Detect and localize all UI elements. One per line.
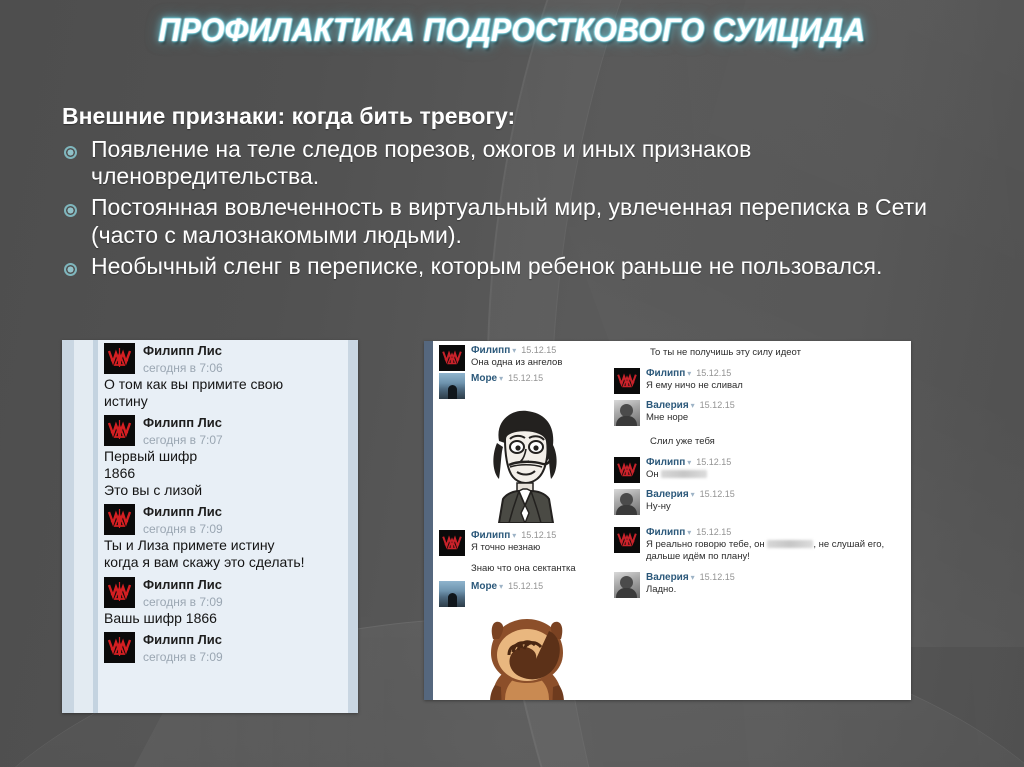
message-body: О том как вы примите свою истину — [104, 376, 342, 410]
message-date: 15.12.15 — [696, 368, 731, 378]
bullet-target-icon — [64, 146, 77, 159]
page-title: ПРОФИЛАКТИКА ПОДРОСТКОВОГО СУИЦИДА — [159, 12, 866, 49]
message-date: 15.12.15 — [696, 457, 731, 467]
chat-message: Море ▾ 15.12.15 — [439, 373, 610, 399]
message-meta: Филипп Лис сегодня в 7:07 — [143, 415, 223, 446]
message-meta: Филипп Лис сегодня в 7:06 — [143, 343, 223, 374]
left-shot-gutter-outer — [62, 340, 74, 713]
message-meta: Филипп ▾ 15.12.15 — [471, 345, 562, 356]
message-author: Филипп Лис — [143, 577, 222, 592]
message-date: 15.12.15 — [700, 572, 735, 582]
title-band: ПРОФИЛАКТИКА ПОДРОСТКОВОГО СУИЦИДА — [0, 12, 1024, 49]
chat-message: Филипп ▾ 15.12.15 Я точно незнаю — [439, 530, 610, 556]
message-content: Филипп ▾ 15.12.15 Я точно незнаю — [471, 530, 556, 556]
message-author[interactable]: Филипп — [646, 457, 685, 468]
emblem-avatar-icon — [104, 577, 135, 608]
message-timestamp: сегодня в 7:09 — [143, 523, 223, 535]
message-timestamp: сегодня в 7:07 — [143, 434, 223, 446]
chat-message: Филипп Лис сегодня в 7:09 Вашь шифр 1866 — [104, 574, 342, 627]
chevron-down-icon[interactable]: ▾ — [687, 369, 691, 378]
bullet-item: Постоянная вовлеченность в виртуальный м… — [62, 194, 952, 248]
message-text: Слил уже тебя — [650, 436, 903, 449]
left-chat-feed: Филипп Лис сегодня в 7:06 О том как вы п… — [98, 340, 348, 713]
message-line: Это вы с лизой — [104, 482, 342, 499]
chevron-down-icon[interactable]: ▾ — [687, 458, 691, 467]
message-author[interactable]: Валерия — [646, 572, 689, 583]
chevron-down-icon[interactable]: ▾ — [512, 346, 516, 355]
message-header: Филипп Лис сегодня в 7:09 — [104, 574, 342, 608]
message-date: 15.12.15 — [508, 581, 543, 591]
bullet-item: Необычный сленг в переписке, которым реб… — [62, 253, 952, 280]
lead-heading: Внешние признаки: когда бить тревогу: — [62, 103, 952, 130]
message-text: Она одна из ангелов — [471, 357, 562, 370]
message-content: Филипп ▾ 15.12.15 Она одна из ангелов — [471, 345, 562, 371]
message-content: Филипп ▾ 15.12.15 Он — [646, 457, 731, 483]
chat-message: Филипп Лис сегодня в 7:07 Первый шифр 18… — [104, 412, 342, 499]
face-photo-avatar-icon — [614, 400, 640, 426]
message-meta: Море ▾ 15.12.15 — [471, 373, 543, 384]
message-line: 1866 — [104, 465, 342, 482]
seashore-photo-avatar-icon — [439, 581, 465, 607]
emblem-avatar-icon — [439, 345, 465, 371]
message-content: Валерия ▾ 15.12.15 Ну-ну — [646, 489, 735, 515]
message-content: Филипп ▾ 15.12.15 Я реально говорю тебе,… — [646, 527, 903, 565]
bullet-text: Необычный сленг в переписке, которым реб… — [91, 253, 882, 280]
message-meta: Валерия ▾ 15.12.15 — [646, 489, 735, 500]
message-author[interactable]: Валерия — [646, 489, 689, 500]
message-meta: Филипп Лис сегодня в 7:09 — [143, 504, 223, 535]
emblem-avatar-icon — [104, 504, 135, 535]
chat-message: Филипп Лис сегодня в 7:09 Ты и Лиза прим… — [104, 501, 342, 571]
message-header: Филипп Лис сегодня в 7:07 — [104, 412, 342, 446]
bullet-target-icon — [64, 204, 77, 217]
left-chat-screenshot: Филипп Лис сегодня в 7:06 О том как вы п… — [62, 340, 358, 713]
chat-message: Море ▾ 15.12.15 — [439, 581, 610, 607]
emblem-avatar-icon — [104, 415, 135, 446]
message-meta: Валерия ▾ 15.12.15 — [646, 400, 735, 411]
message-author[interactable]: Море — [471, 581, 497, 592]
censored-word-redaction — [661, 470, 707, 478]
message-author: Филипп Лис — [143, 504, 222, 519]
message-body: Вашь шифр 1866 — [104, 610, 342, 627]
message-line: О том как вы примите свою — [104, 376, 342, 393]
message-date: 15.12.15 — [700, 489, 735, 499]
message-meta: Филипп ▾ 15.12.15 — [646, 457, 731, 468]
message-line: истину — [104, 393, 342, 410]
chevron-down-icon[interactable]: ▾ — [691, 401, 695, 410]
message-body: Первый шифр 1866 Это вы с лизой — [104, 448, 342, 499]
message-author[interactable]: Филипп — [646, 527, 685, 538]
emblem-avatar-icon — [614, 368, 640, 394]
message-meta: Филипп Лис сегодня в 7:09 — [143, 577, 223, 608]
chevron-down-icon[interactable]: ▾ — [499, 582, 503, 591]
message-header: Филипп Лис сегодня в 7:09 — [104, 501, 342, 535]
message-date: 15.12.15 — [521, 345, 556, 355]
chat-message: Филипп ▾ 15.12.15 Он — [614, 457, 903, 483]
chat-message: Филипп ▾ 15.12.15 Я реально говорю тебе,… — [614, 527, 903, 565]
message-content: Море ▾ 15.12.15 — [471, 373, 543, 399]
message-header: Филипп Лис сегодня в 7:06 — [104, 340, 342, 374]
message-timestamp: сегодня в 7:06 — [143, 362, 223, 374]
message-timestamp: сегодня в 7:09 — [143, 596, 223, 608]
emblem-avatar-icon — [614, 527, 640, 553]
message-content: Валерия ▾ 15.12.15 Мне норе — [646, 400, 735, 426]
right-shot-left-column: Филипп ▾ 15.12.15 Она одна из ангелов Мо… — [433, 341, 614, 700]
message-body: Ты и Лиза примете истину когда я вам ска… — [104, 537, 342, 571]
message-author: Филипп Лис — [143, 632, 222, 647]
left-shot-gutter-inner — [74, 340, 93, 713]
message-date: 15.12.15 — [508, 373, 543, 383]
chevron-down-icon[interactable]: ▾ — [512, 531, 516, 540]
chat-message: Валерия ▾ 15.12.15 Мне норе — [614, 400, 903, 426]
message-text: Ладно. — [646, 584, 735, 597]
censored-word-redaction — [767, 540, 813, 548]
chat-message: Филипп ▾ 15.12.15 Я ему ничо не сливал — [614, 368, 903, 394]
message-text: Я реально говорю тебе, он , не слушай ег… — [646, 539, 903, 565]
message-date: 15.12.15 — [696, 527, 731, 537]
message-author[interactable]: Филипп — [646, 368, 685, 379]
face-photo-avatar-icon — [614, 489, 640, 515]
owl-facepalm-sticker — [467, 609, 610, 700]
message-author: Филипп Лис — [143, 343, 222, 358]
message-text: Мне норе — [646, 412, 735, 425]
face-photo-avatar-icon — [614, 572, 640, 598]
message-timestamp: сегодня в 7:09 — [143, 651, 223, 663]
chat-message: Филипп Лис сегодня в 7:06 О том как вы п… — [104, 340, 342, 410]
message-author[interactable]: Валерия — [646, 400, 689, 411]
message-meta: Филипп ▾ 15.12.15 — [646, 527, 903, 538]
message-meta: Филипп ▾ 15.12.15 — [646, 368, 743, 379]
message-text-before: Я реально говорю тебе, он — [646, 539, 767, 550]
message-text-before: Он — [646, 469, 661, 480]
message-meta: Валерия ▾ 15.12.15 — [646, 572, 735, 583]
bullet-text: Появление на теле следов порезов, ожогов… — [91, 136, 952, 190]
chat-message: Валерия ▾ 15.12.15 Ну-ну — [614, 489, 903, 515]
right-shot-side-rail — [424, 341, 433, 700]
right-shot-right-column: То ты не получишь эту силу идеот Филипп — [614, 341, 911, 700]
message-text: Знаю что она сектантка — [471, 563, 610, 576]
message-date: 15.12.15 — [700, 400, 735, 410]
message-line: Первый шифр — [104, 448, 342, 465]
seashore-photo-avatar-icon — [439, 373, 465, 399]
message-text: Он — [646, 469, 731, 482]
message-header: Филипп Лис сегодня в 7:09 — [104, 629, 342, 663]
message-content: Валерия ▾ 15.12.15 Ладно. — [646, 572, 735, 598]
chat-message: Валерия ▾ 15.12.15 Ладно. — [614, 572, 903, 598]
chevron-down-icon[interactable]: ▾ — [499, 374, 503, 383]
slide-body: Внешние признаки: когда бить тревогу: По… — [62, 103, 952, 284]
message-date: 15.12.15 — [521, 530, 556, 540]
chat-message: Филипп Лис сегодня в 7:09 — [104, 629, 342, 663]
chevron-down-icon[interactable]: ▾ — [691, 573, 695, 582]
chat-message: Филипп ▾ 15.12.15 Она одна из ангелов — [439, 345, 610, 371]
message-meta: Филипп ▾ 15.12.15 — [471, 530, 556, 541]
chevron-down-icon[interactable]: ▾ — [687, 528, 691, 537]
emblem-avatar-icon — [104, 632, 135, 663]
message-line: Вашь шифр 1866 — [104, 610, 342, 627]
left-shot-scroll-rail[interactable] — [348, 340, 358, 713]
chevron-down-icon[interactable]: ▾ — [691, 490, 695, 499]
message-author[interactable]: Филипп — [471, 530, 510, 541]
message-author[interactable]: Море — [471, 373, 497, 384]
emblem-avatar-icon — [104, 343, 135, 374]
message-line: Ты и Лиза примете истину — [104, 537, 342, 554]
bullet-list: Появление на теле следов порезов, ожогов… — [62, 136, 952, 280]
message-text: То ты не получишь эту силу идеот — [650, 347, 903, 360]
right-chat-screenshot: Филипп ▾ 15.12.15 Она одна из ангелов Мо… — [424, 341, 911, 700]
message-meta: Море ▾ 15.12.15 — [471, 581, 543, 592]
message-text: Я ему ничо не сливал — [646, 380, 743, 393]
message-text: Я точно незнаю — [471, 542, 556, 555]
message-meta: Филипп Лис сегодня в 7:09 — [143, 632, 223, 663]
message-text: Ну-ну — [646, 501, 735, 514]
bullet-target-icon — [64, 263, 77, 276]
message-line: когда я вам скажу это сделать! — [104, 554, 342, 571]
message-content: Филипп ▾ 15.12.15 Я ему ничо не сливал — [646, 368, 743, 394]
dali-man-sticker — [469, 401, 610, 528]
message-author[interactable]: Филипп — [471, 345, 510, 356]
emblem-avatar-icon — [439, 530, 465, 556]
message-content: Море ▾ 15.12.15 — [471, 581, 543, 607]
emblem-avatar-icon — [614, 457, 640, 483]
bullet-text: Постоянная вовлеченность в виртуальный м… — [91, 194, 952, 248]
presentation-slide: ПРОФИЛАКТИКА ПОДРОСТКОВОГО СУИЦИДА Внешн… — [0, 0, 1024, 767]
bullet-item: Появление на теле следов порезов, ожогов… — [62, 136, 952, 190]
message-author: Филипп Лис — [143, 415, 222, 430]
